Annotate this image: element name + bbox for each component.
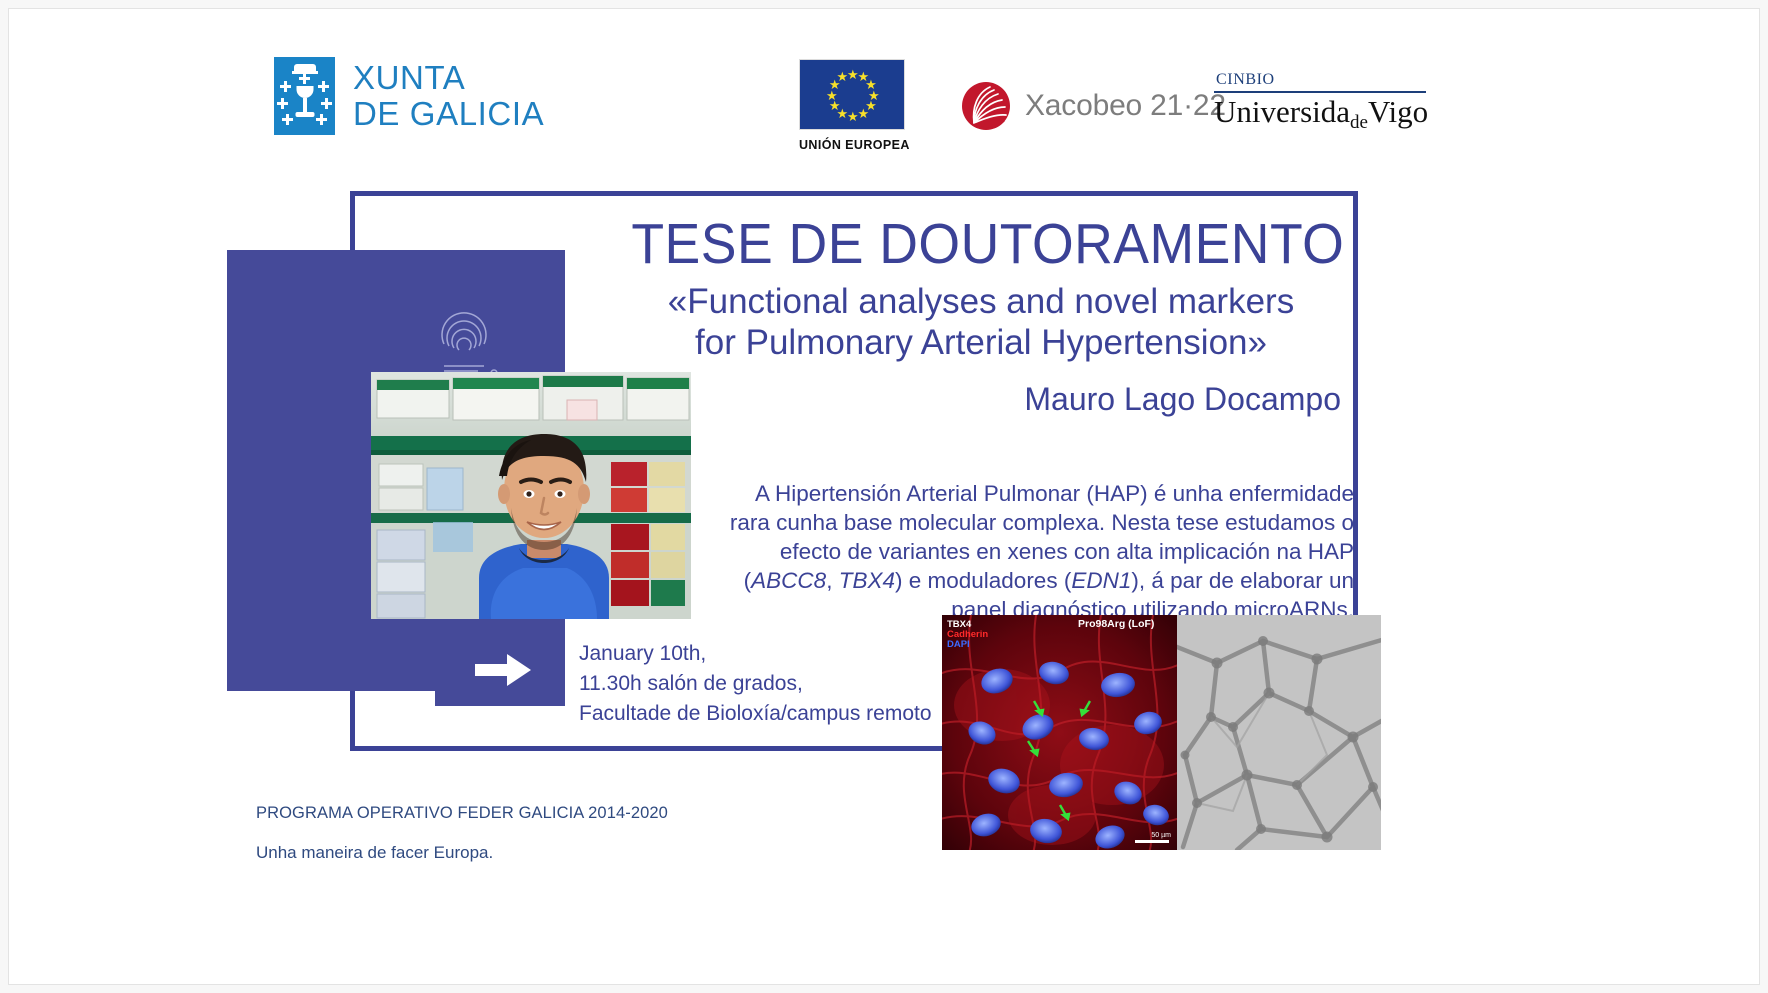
micro-label-dapi: DAPI	[947, 639, 970, 650]
crown-icon	[294, 64, 316, 73]
logo-bar: XUNTA DE GALICIA ★★★★★★★★★★★★ UNIÓN EURO…	[9, 9, 1759, 169]
microscopy-panel: TBX4 Cadherin DAPI Pro98Arg (LoF) 50 µm	[942, 615, 1381, 850]
xacobeo-logo: Xacobeo 21·22	[961, 81, 1226, 131]
event-time-venue: 11.30h salón de grados,	[579, 669, 999, 699]
cross-icon	[282, 114, 293, 125]
european-union-flag-icon: ★★★★★★★★★★★★	[799, 59, 905, 130]
poster-page: XUNTA DE GALICIA ★★★★★★★★★★★★ UNIÓN EURO…	[8, 8, 1760, 985]
event-details: January 10th, 11.30h salón de grados, Fa…	[579, 639, 999, 729]
cross-icon	[277, 98, 288, 109]
event-location: Facultade de Bioloxía/campus remoto	[579, 699, 999, 729]
abstract-text: A Hipertensión Arterial Pulmonar (HAP) é…	[709, 479, 1354, 624]
cinbio-divider	[1214, 91, 1426, 93]
feder-programme-line: PROGRAMA OPERATIVO FEDER GALICIA 2014-20…	[256, 804, 668, 823]
feder-slogan-line: Unha maneira de facer Europa.	[256, 843, 668, 863]
gene-abcc8: ABCC8	[751, 568, 826, 593]
immunofluorescence-image: TBX4 Cadherin DAPI Pro98Arg (LoF) 50 µm	[942, 615, 1177, 850]
cross-icon	[280, 81, 291, 92]
thesis-subtitle: «Functional analyses and novel markers f…	[607, 281, 1355, 363]
european-union-logo: ★★★★★★★★★★★★ UNIÓN EUROPEA	[799, 59, 910, 152]
thesis-subtitle-line2: for Pulmonary Arterial Hypertension»	[607, 322, 1355, 363]
cross-icon	[299, 73, 310, 84]
uvigo-part-de: de	[1350, 112, 1368, 133]
page-title: TESE DE DOUTORAMENTO	[631, 213, 1331, 275]
cross-icon	[318, 81, 329, 92]
xacobeo-label: Xacobeo 21·22	[1025, 89, 1226, 123]
chalice-base	[295, 112, 314, 117]
xunta-de-galicia-logo: XUNTA DE GALICIA	[274, 57, 544, 135]
xacobeo-shell-icon	[961, 81, 1011, 131]
chalice-stem	[303, 98, 307, 112]
micro-label-genotype: Pro98Arg (LoF)	[1078, 619, 1154, 630]
abstract-sep1: ,	[826, 568, 839, 593]
micro-scalebar-label: 50 µm	[1151, 832, 1171, 839]
uvigo-part-a: Universida	[1214, 94, 1350, 129]
xunta-logo-line2: DE GALICIA	[353, 96, 544, 132]
brightfield-tube-formation-image	[1177, 615, 1381, 850]
gene-edn1: EDN1	[1071, 568, 1131, 593]
feder-footer: PROGRAMA OPERATIVO FEDER GALICIA 2014-20…	[256, 804, 668, 863]
cinbio-label: CINBIO	[1214, 71, 1428, 89]
xunta-galicia-shield-icon	[274, 57, 335, 135]
arrow-block	[435, 634, 565, 706]
uvigo-part-c: Vigo	[1368, 94, 1428, 129]
gene-tbx4: TBX4	[839, 568, 895, 593]
author-name: Mauro Lago Docampo	[607, 381, 1355, 418]
thesis-subtitle-line1: «Functional analyses and novel markers	[607, 281, 1355, 322]
chalice-icon	[296, 86, 313, 98]
cinbio-universidade-vigo-logo: CINBIO UniversidadeVigo	[1214, 71, 1428, 130]
xunta-logo-line1: XUNTA	[353, 60, 544, 96]
micro-scalebar	[1135, 840, 1169, 843]
cross-icon	[316, 114, 327, 125]
event-date: January 10th,	[579, 639, 999, 669]
cross-icon	[321, 98, 332, 109]
abstract-part2: ) e moduladores (	[895, 568, 1071, 593]
european-union-label: UNIÓN EUROPEA	[799, 138, 910, 152]
xunta-logo-text: XUNTA DE GALICIA	[353, 60, 544, 132]
right-arrow-icon	[475, 652, 531, 693]
universidade-de-vigo-label: UniversidadeVigo	[1214, 94, 1428, 130]
